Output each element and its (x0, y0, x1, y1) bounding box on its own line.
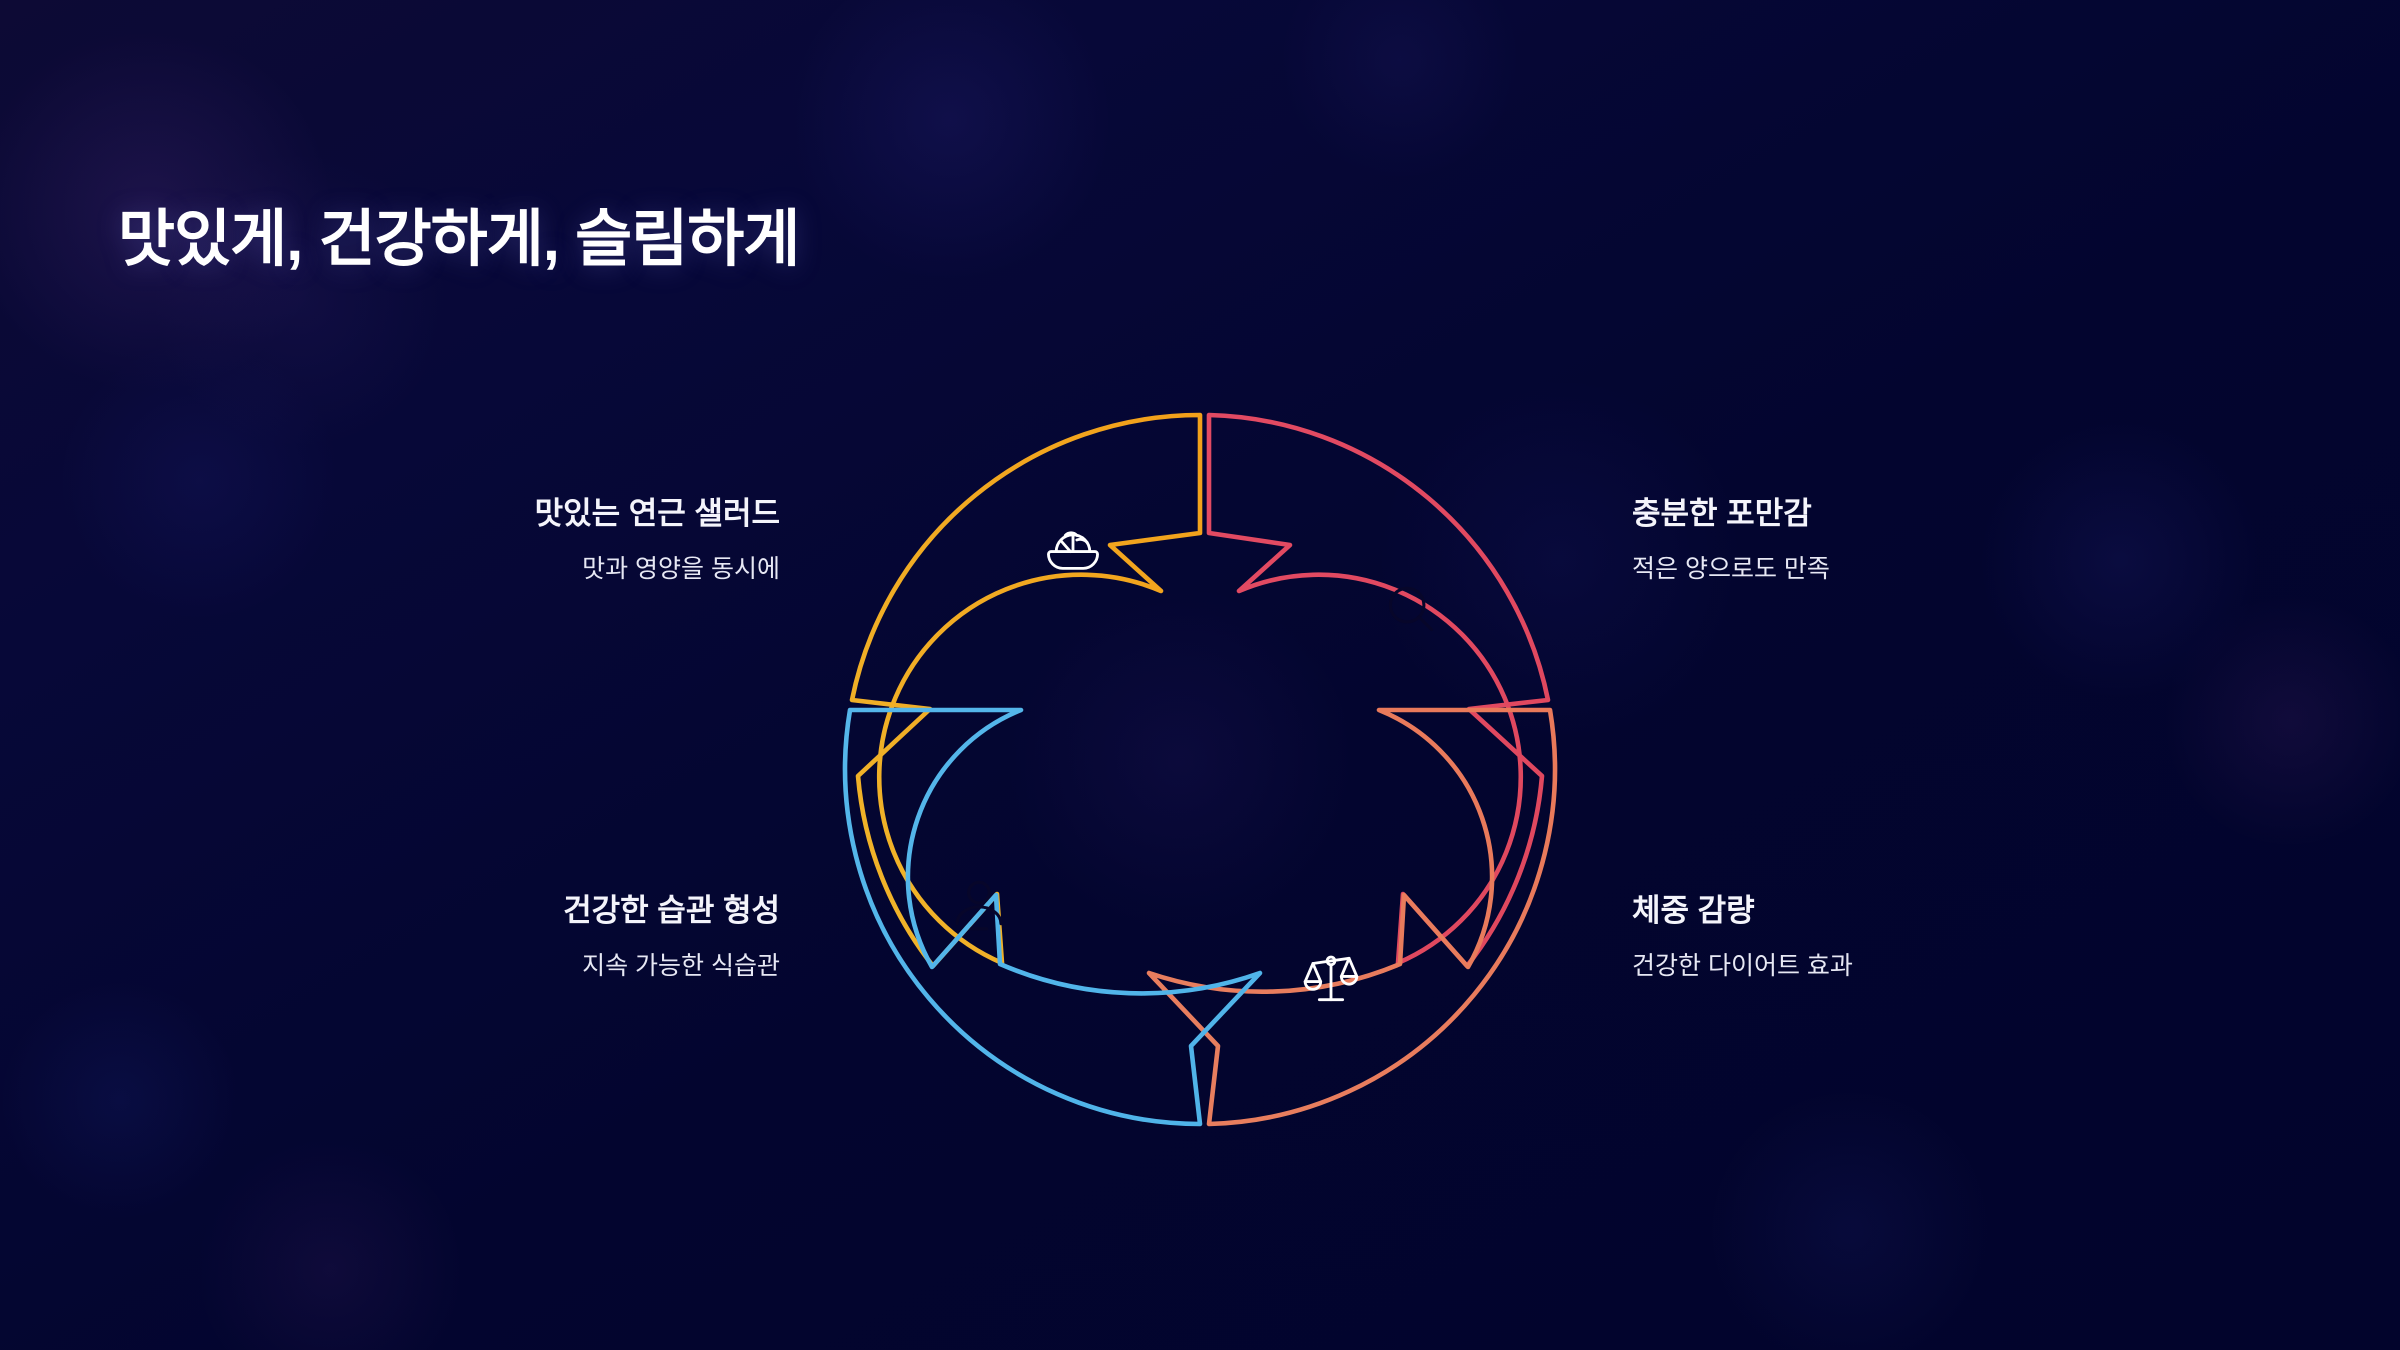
search-icon (1380, 578, 1442, 640)
benefit-label-bottom-right: 체중 감량 건강한 다이어트 효과 (1632, 893, 2202, 981)
benefit-label-top-right: 충분한 포만감 적은 양으로도 만족 (1632, 496, 2202, 584)
person-icon (948, 872, 1010, 934)
benefit-subtitle: 맛과 영양을 동시에 (210, 554, 780, 584)
benefit-title: 체중 감량 (1632, 893, 2202, 929)
slide-canvas: 맛있게, 건강하게, 슬림하게 (0, 0, 2400, 1350)
wheel-segment-bottom-right[interactable] (1149, 710, 1555, 1124)
benefit-title: 충분한 포만감 (1632, 496, 2202, 532)
wheel-segment-top-right[interactable] (1209, 415, 1548, 966)
scales-icon (1300, 948, 1362, 1010)
benefit-subtitle: 적은 양으로도 만족 (1632, 554, 2202, 584)
salad-bowl-icon (1042, 518, 1104, 580)
benefit-subtitle: 지속 가능한 식습관 (210, 951, 780, 981)
benefit-label-bottom-left: 건강한 습관 형성 지속 가능한 식습관 (210, 893, 780, 981)
benefit-wheel-diagram (800, 370, 1600, 1170)
wheel-segment-top-left[interactable] (852, 415, 1200, 966)
wheel-segment-bottom-left[interactable] (845, 710, 1260, 1124)
benefit-subtitle: 건강한 다이어트 효과 (1632, 951, 2202, 981)
page-title: 맛있게, 건강하게, 슬림하게 (118, 188, 799, 278)
benefit-label-top-left: 맛있는 연근 샐러드 맛과 영양을 동시에 (210, 496, 780, 584)
benefit-title: 맛있는 연근 샐러드 (210, 496, 780, 532)
benefit-title: 건강한 습관 형성 (210, 893, 780, 929)
